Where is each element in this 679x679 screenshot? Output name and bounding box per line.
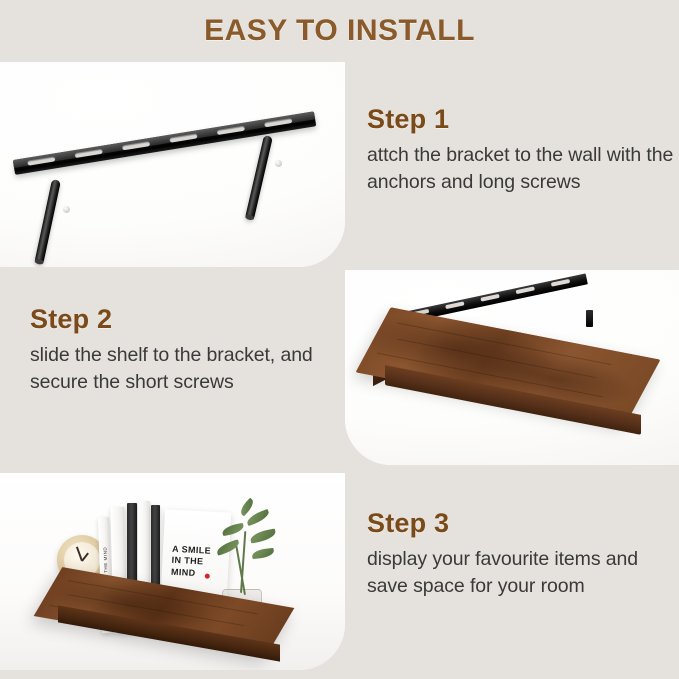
step-3-text-block: Step 3 display your favourite items and …: [367, 508, 677, 600]
step-2-image-panel: [345, 270, 679, 465]
step-1-body: attch the bracket to the wall with the a…: [367, 142, 677, 196]
step-2-text-block: Step 2 slide the shelf to the bracket, a…: [30, 304, 340, 396]
step-1-heading: Step 1: [367, 104, 677, 135]
step-1-image-panel: [0, 62, 345, 267]
step-2-body: slide the shelf to the bracket, and secu…: [30, 342, 340, 396]
bracket-slot: [551, 279, 570, 287]
step-3-heading: Step 3: [367, 508, 677, 539]
bracket-end-right: [586, 310, 593, 327]
bracket-screw-right: [275, 160, 282, 167]
bracket-slot: [516, 286, 535, 294]
bracket-slot: [480, 294, 499, 302]
page-title: EASY TO INSTALL: [204, 14, 475, 48]
step-3-body: display your favourite items and save sp…: [367, 546, 677, 600]
wall-bracket-illustration: [8, 114, 338, 254]
shelf-with-bracket-illustration: [373, 308, 658, 443]
step-3-image-panel: A SMILE IN THE MIND A SMILE IN THE MIND: [0, 473, 345, 670]
step-1-text-block: Step 1 attch the bracket to the wall wit…: [367, 104, 677, 196]
title-bar: EASY TO INSTALL: [0, 0, 679, 62]
step-2-heading: Step 2: [30, 304, 340, 335]
bracket-screw-left: [63, 206, 70, 213]
bracket-slot: [445, 301, 464, 309]
bracket-support-rod-left: [34, 179, 61, 265]
wood-grain: [397, 339, 595, 378]
book-cover-title: A SMILE IN THE MIND: [171, 544, 221, 580]
bracket-support-rod-right: [245, 135, 273, 221]
